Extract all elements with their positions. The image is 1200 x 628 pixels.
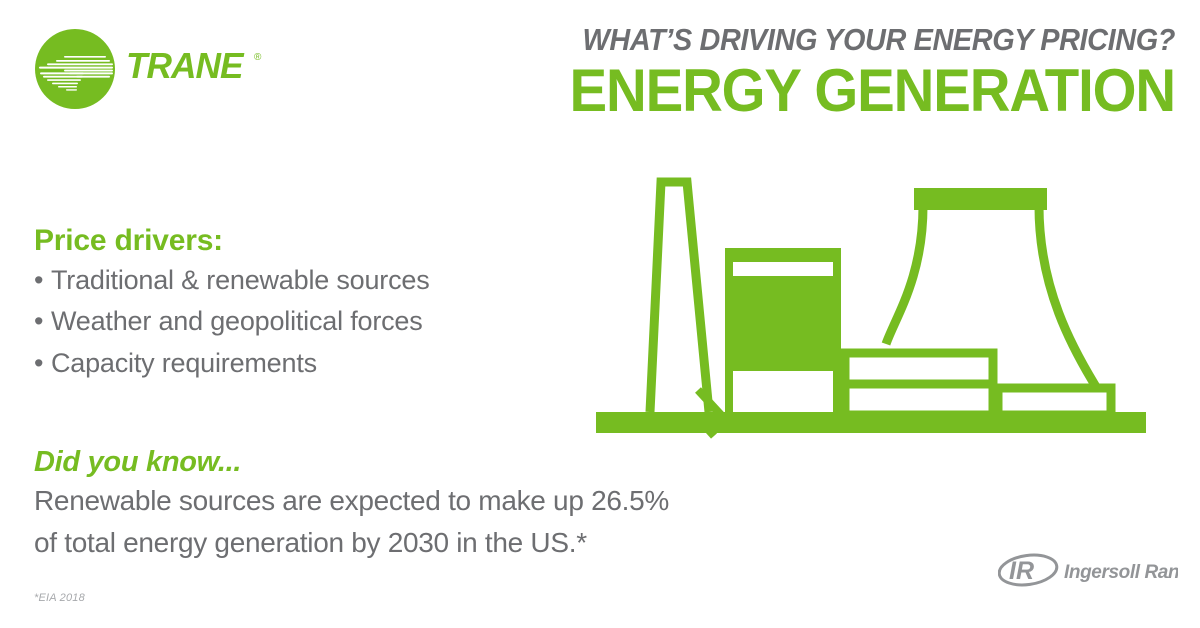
eyebrow-title: WHAT’S DRIVING YOUR ENERGY PRICING?: [375, 24, 1175, 57]
ir-monogram-icon: IR: [998, 552, 1059, 589]
trane-circle-icon: [34, 28, 116, 110]
bullet-icon: •: [34, 260, 51, 302]
headline-block: WHAT’S DRIVING YOUR ENERGY PRICING? ENER…: [315, 24, 1175, 122]
cooling-tower-right: [1039, 206, 1098, 390]
ground-bar: [596, 412, 1146, 433]
footnote: *EIA 2018: [34, 592, 85, 604]
did-you-know-line: of total energy generation by 2030 in th…: [34, 522, 834, 564]
price-drivers-heading: Price drivers:: [34, 222, 594, 260]
bullet-icon: •: [34, 301, 51, 343]
list-item-label: Weather and geopolitical forces: [51, 306, 423, 336]
did-you-know-line: Renewable sources are expected to make u…: [34, 480, 834, 522]
infographic-canvas: TRANE ® WHAT’S DRIVING YOUR ENERGY PRICI…: [0, 0, 1200, 628]
cooling-tower-cap: [914, 188, 1047, 210]
trane-logo: TRANE ®: [34, 28, 264, 108]
did-you-know-section: Did you know... Renewable sources are ex…: [34, 444, 834, 564]
ingersoll-rand-period: .: [1166, 566, 1170, 581]
bullet-icon: •: [34, 343, 51, 385]
power-plant-illustration: [592, 168, 1158, 440]
cooling-tower-left: [886, 206, 923, 344]
list-item: •Weather and geopolitical forces: [34, 301, 594, 343]
trane-wordmark-text: TRANE: [126, 46, 245, 86]
main-building-stripe: [733, 262, 833, 276]
ingersoll-rand-logo: IR Ingersoll Rand .: [998, 550, 1178, 590]
list-item: •Traditional & renewable sources: [34, 260, 594, 302]
svg-text:IR: IR: [1009, 557, 1034, 585]
list-item-label: Traditional & renewable sources: [51, 265, 430, 295]
main-building-panel: [733, 371, 833, 416]
smokestack: [650, 182, 709, 412]
list-item-label: Capacity requirements: [51, 348, 317, 378]
small-building: [998, 388, 1111, 415]
did-you-know-heading: Did you know...: [34, 444, 834, 480]
registered-mark-icon: ®: [254, 52, 262, 63]
price-drivers-section: Price drivers: •Traditional & renewable …: [34, 222, 594, 385]
trane-wordmark: TRANE ®: [126, 44, 266, 90]
ingersoll-rand-wordmark: Ingersoll Rand: [1064, 562, 1178, 583]
list-item: •Capacity requirements: [34, 343, 594, 385]
page-title: ENERGY GENERATION: [367, 59, 1175, 123]
